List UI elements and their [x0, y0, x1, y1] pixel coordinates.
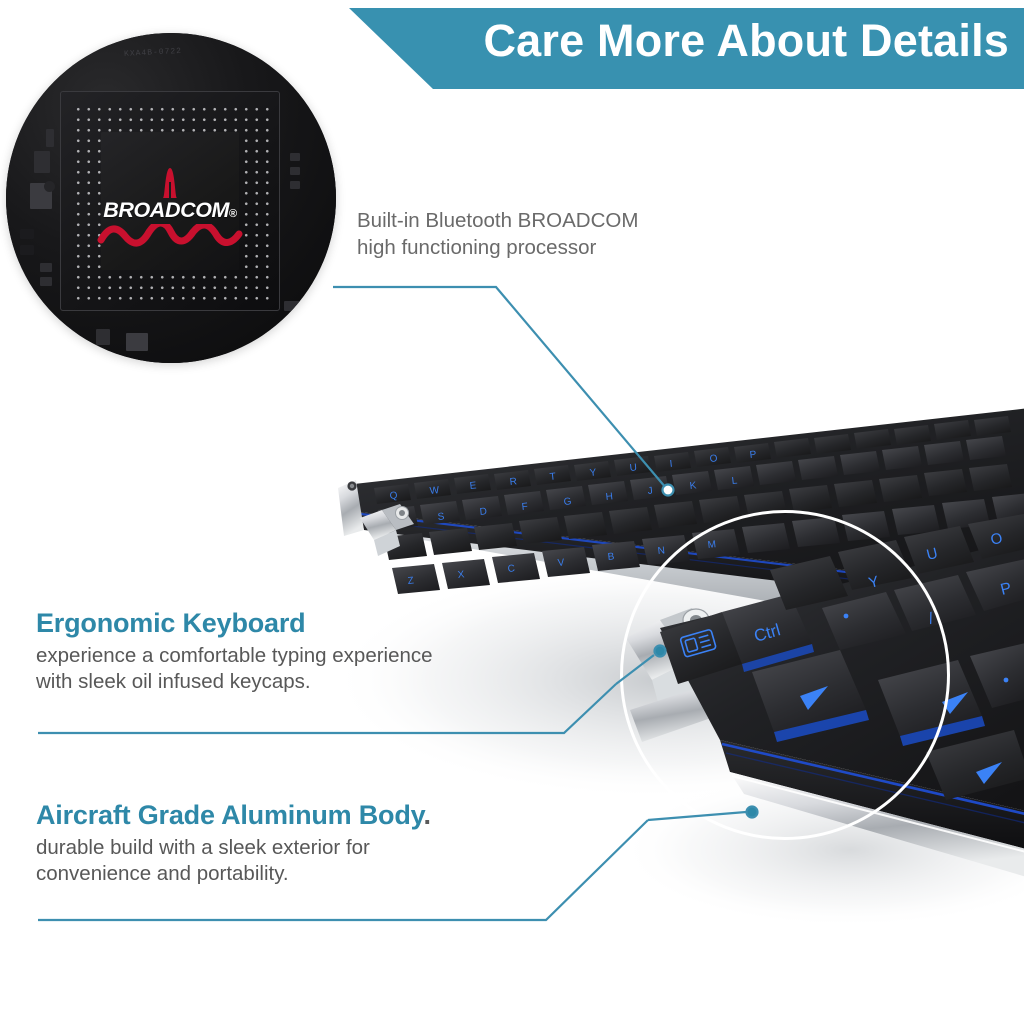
- svg-text:H: H: [605, 491, 613, 503]
- smd-component: [20, 229, 34, 239]
- smd-component: [290, 181, 300, 189]
- smd-component: [96, 329, 110, 345]
- smd-component: [126, 333, 148, 351]
- smd-component: [284, 301, 310, 311]
- broadcom-chip-inset: KXA4B-0722: [6, 33, 336, 363]
- svg-text:N: N: [657, 545, 665, 557]
- svg-text:D: D: [479, 506, 487, 518]
- smd-component: [34, 151, 50, 173]
- svg-text:Q: Q: [389, 490, 398, 502]
- product-detail-infographic: Q W E R T Y U I O P A S D F G H J K L Z: [0, 0, 1024, 1024]
- chip-callout-line1: Built-in Bluetooth BROADCOM: [357, 207, 707, 234]
- broadcom-registered-mark: ®: [229, 208, 237, 220]
- feature-body: durable build with a sleek exterior for …: [36, 835, 556, 887]
- svg-text:W: W: [429, 485, 440, 497]
- svg-text:M: M: [707, 539, 716, 551]
- smd-component: [290, 153, 300, 161]
- feature-heading-text: Ergonomic Keyboard: [36, 608, 305, 638]
- svg-text:C: C: [507, 563, 515, 575]
- svg-text:U: U: [629, 462, 637, 474]
- broadcom-wordmark-text: BROADCOM: [103, 198, 229, 222]
- smd-component: [40, 277, 52, 286]
- svg-text:G: G: [563, 496, 572, 508]
- svg-text:O: O: [709, 453, 718, 465]
- smd-component: [20, 245, 34, 255]
- svg-text:F: F: [521, 501, 528, 513]
- broadcom-logo: BROADCOM®: [95, 152, 245, 250]
- broadcom-underwave-icon: [95, 224, 245, 250]
- feature-ergonomic-keyboard: Ergonomic Keyboard experience a comforta…: [36, 608, 556, 695]
- svg-text:Z: Z: [407, 575, 414, 587]
- smd-component: [40, 263, 52, 272]
- feature-heading: Ergonomic Keyboard: [36, 608, 556, 639]
- feature-aircraft-grade-aluminum-body: Aircraft Grade Aluminum Body. durable bu…: [36, 800, 556, 887]
- smd-component: [290, 167, 300, 175]
- feature-body: experience a comfortable typing experien…: [36, 643, 556, 695]
- smd-component: [46, 129, 54, 147]
- chip-callout-line2: high functioning processor: [357, 234, 707, 261]
- broadcom-wordmark: BROADCOM®: [95, 198, 245, 223]
- chip-pad: [44, 181, 55, 192]
- feature-heading: Aircraft Grade Aluminum Body.: [36, 800, 556, 831]
- feature-heading-suffix: .: [423, 800, 430, 830]
- bga-package: BROADCOM®: [60, 91, 280, 311]
- svg-text:T: T: [549, 471, 556, 483]
- feature-heading-text: Aircraft Grade Aluminum Body: [36, 800, 423, 830]
- chip-callout-text: Built-in Bluetooth BROADCOM high functio…: [357, 207, 707, 261]
- svg-text:R: R: [509, 476, 517, 488]
